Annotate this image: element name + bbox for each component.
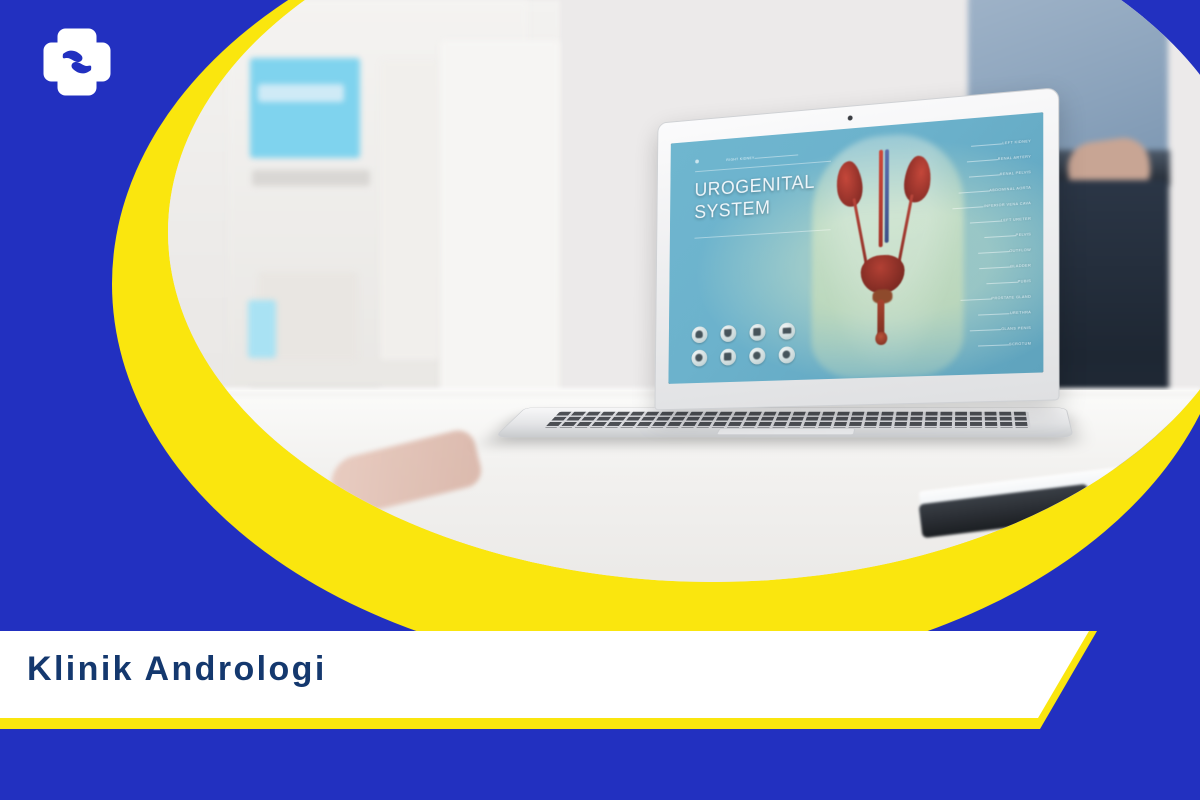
laptop-trackpad[interactable] [716,428,856,435]
anatomy-label: OUTFLOW [1009,248,1031,253]
screen-icon-grid[interactable] [691,322,799,366]
anatomy-vena-cava [885,149,889,242]
shelf-item-label [258,84,344,102]
microscope-icon-glyph [695,354,702,362]
anatomy-label: RENAL ARTERY [998,155,1032,162]
monitor-icon[interactable] [778,322,794,340]
anatomy-label: URETHRA [1010,310,1031,315]
anatomy-label-right-kidney: RIGHT KIDNEY [726,156,754,162]
banner-white-panel: Klinik Andrologi [0,631,1089,718]
laptop: UROGENITAL SYSTEM RIGHT KIDNEY [510,105,1070,445]
screen-bullet-dot [695,159,699,163]
monitor-icon-glyph [782,328,791,334]
shelf-divider [252,170,370,186]
clinic-logo[interactable] [39,24,115,100]
anatomy-label: BLADDER [1010,263,1031,268]
anatomy-label: GLANS PENIS [1001,326,1031,331]
anatomy-label: PROSTATE GLAND [991,295,1031,301]
kidney-icon-glyph [724,329,732,337]
anatomy-left-kidney [902,155,934,203]
clinic-scene: UROGENITAL SYSTEM RIGHT KIDNEY [168,0,1200,582]
document-icon[interactable] [720,348,736,365]
anatomy-label: LEFT URETER [1001,217,1031,223]
laptop-lid: UROGENITAL SYSTEM RIGHT KIDNEY [655,87,1060,410]
anatomy-left-ureter [897,195,913,267]
screen-rule-bottom [694,229,830,239]
shelf-column [380,60,440,360]
laptop-base [494,408,1074,438]
shelf-item-cyan [248,300,276,358]
anatomy-label: INFERIOR VENA CAVA [984,201,1031,208]
anatomy-glans [876,331,888,345]
anatomy-label-column: LEFT KIDNEYRENAL ARTERYRENAL PELVISABDOM… [936,139,1031,360]
anatomy-label: RENAL PELVIS [1000,170,1031,176]
stethoscope-icon[interactable] [778,346,794,363]
anatomy-right-ureter [853,198,869,268]
title-banner: Klinik Andrologi [0,631,1097,729]
laptop-screen[interactable]: UROGENITAL SYSTEM RIGHT KIDNEY [668,112,1043,384]
kidney-icon[interactable] [720,324,736,341]
bladder-icon-glyph [696,330,703,338]
scan-icon-glyph [753,328,761,336]
anatomy-label: SCROTUM [1009,341,1031,346]
stethoscope-icon-glyph [783,350,791,358]
webcam-icon [847,115,852,120]
microscope-icon[interactable] [691,349,707,366]
anatomy-label: PELVIS [1016,232,1032,237]
anatomy-label: ABDOMINAL AORTA [989,186,1031,193]
laptop-keyboard[interactable] [545,412,1031,428]
anatomy-diagram [834,142,933,359]
screen-wallpaper: UROGENITAL SYSTEM RIGHT KIDNEY [668,112,1043,384]
anatomy-right-kidney [834,159,865,209]
page-title: Klinik Andrologi [27,650,327,689]
cells-icon-glyph [753,351,761,359]
hero-photo: UROGENITAL SYSTEM RIGHT KIDNEY [168,0,1200,582]
cells-icon[interactable] [749,347,765,364]
document-icon-glyph [724,353,732,361]
scan-icon[interactable] [749,323,765,340]
anatomy-abdominal-aorta [879,150,883,247]
shelf-item-blue-box [250,58,360,158]
bladder-icon[interactable] [691,326,707,343]
anatomy-label: PUBIS [1018,279,1032,284]
screen-title: UROGENITAL SYSTEM [694,171,815,225]
anatomy-label: LEFT KIDNEY [1002,139,1031,145]
poster-canvas: UROGENITAL SYSTEM RIGHT KIDNEY [0,0,1200,800]
